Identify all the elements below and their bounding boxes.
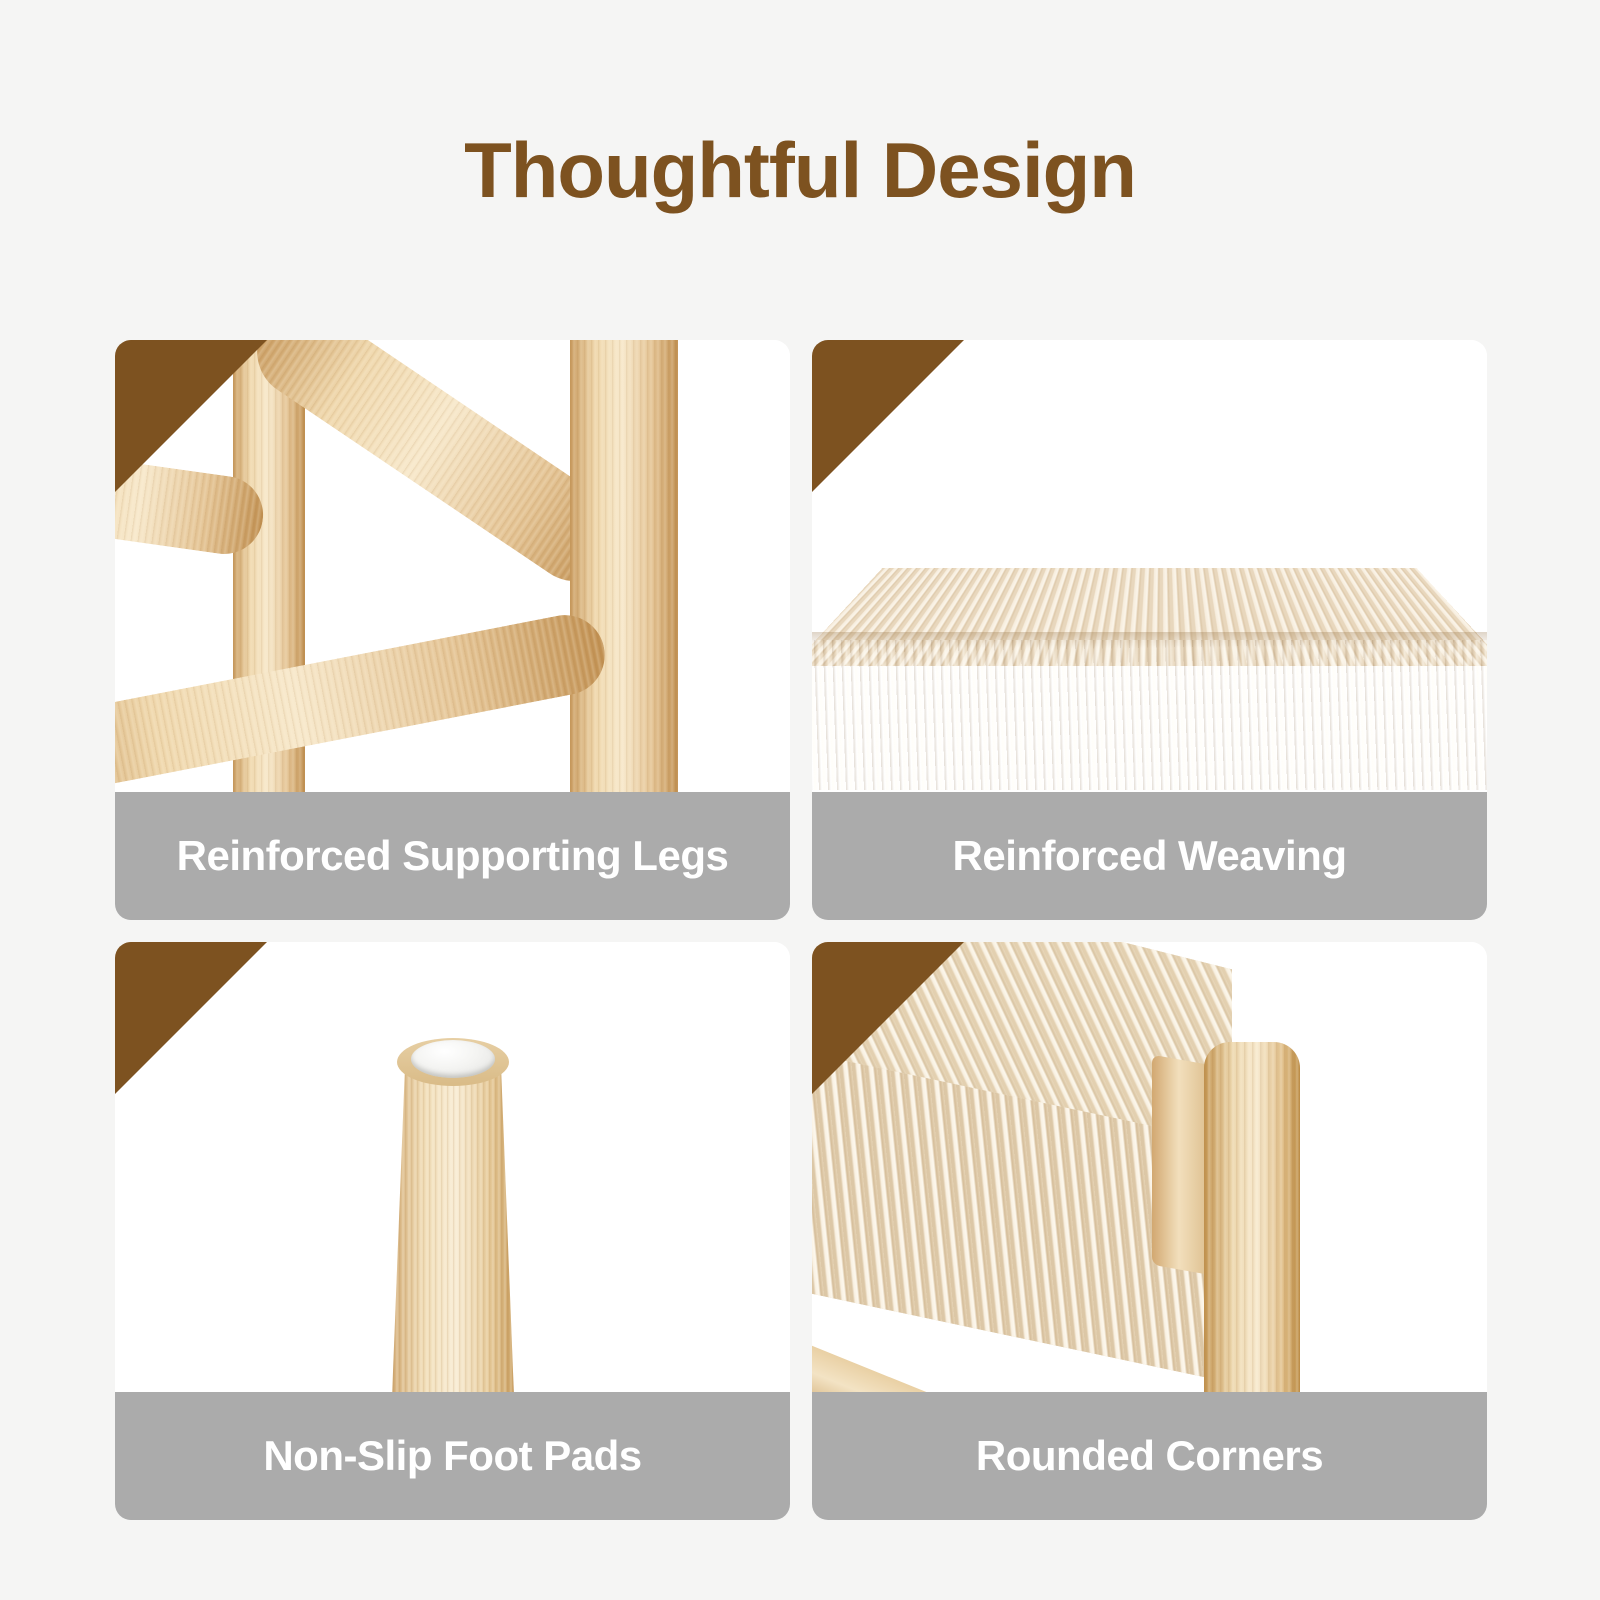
non-slip-foot-pad — [411, 1040, 495, 1078]
feature-label-band-2: Reinforced Weaving — [812, 792, 1487, 920]
feature-image-2: 2 — [812, 340, 1487, 792]
feature-label-band-4: Rounded Corners — [812, 1392, 1487, 1520]
feature-card-1[interactable]: 1 Reinforced Supporting Legs — [115, 340, 790, 920]
corner-badge-3 — [115, 942, 267, 1094]
feature-label-4: Rounded Corners — [956, 1432, 1343, 1480]
wood-post-right — [570, 340, 678, 792]
feature-card-grid: 1 Reinforced Supporting Legs 2 Reinforce… — [115, 340, 1487, 1520]
infographic-page: Thoughtful Design 1 Reinforced Supportin… — [0, 0, 1600, 1600]
feature-label-band-3: Non-Slip Foot Pads — [115, 1392, 790, 1520]
feature-label-1: Reinforced Supporting Legs — [157, 832, 749, 880]
feature-card-2[interactable]: 2 Reinforced Weaving — [812, 340, 1487, 920]
feature-image-1: 1 — [115, 340, 790, 792]
feature-label-3: Non-Slip Foot Pads — [243, 1432, 661, 1480]
woven-seat-front — [812, 640, 1487, 790]
feature-card-3[interactable]: 3 Non-Slip Foot Pads — [115, 942, 790, 1520]
wood-rung-bottom — [115, 608, 612, 792]
page-title: Thoughtful Design — [0, 128, 1600, 214]
wood-seat-rail — [1152, 1055, 1212, 1276]
feature-card-4[interactable]: 4 Rounded Corners — [812, 942, 1487, 1520]
feature-label-band-1: Reinforced Supporting Legs — [115, 792, 790, 920]
corner-badge-2 — [812, 340, 964, 492]
feature-image-4: 4 — [812, 942, 1487, 1392]
wood-rounded-leg-post — [1204, 1042, 1300, 1392]
wood-leg-tapered — [387, 1054, 519, 1392]
feature-image-3: 3 — [115, 942, 790, 1392]
feature-label-2: Reinforced Weaving — [933, 832, 1367, 880]
